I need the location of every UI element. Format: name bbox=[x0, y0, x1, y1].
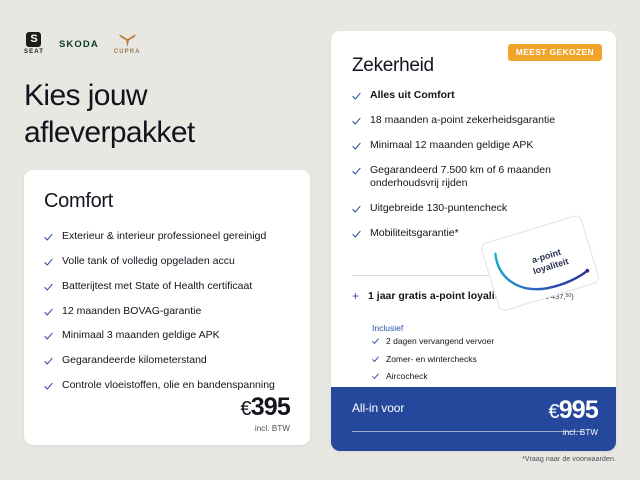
check-icon bbox=[44, 332, 53, 341]
list-item-label: Controle vloeistoffen, olie en bandenspa… bbox=[62, 379, 275, 393]
status-badge: MEEST GEKOZEN bbox=[508, 44, 602, 61]
list-item-label: Volle tank of volledig opgeladen accu bbox=[62, 255, 235, 269]
list-item-label: Zomer- en winterchecks bbox=[386, 354, 477, 365]
included-label: Inclusief bbox=[372, 323, 403, 333]
comfort-price-note: incl. BTW bbox=[240, 424, 290, 433]
list-item: Gegarandeerde kilometerstand bbox=[44, 354, 290, 368]
list-item: 12 maanden BOVAG-garantie bbox=[44, 305, 290, 319]
check-icon bbox=[372, 356, 379, 363]
check-icon bbox=[44, 233, 53, 242]
list-item: Aircocheck bbox=[372, 371, 542, 382]
seat-logo: S SEAT bbox=[24, 32, 44, 55]
check-icon bbox=[44, 357, 53, 366]
list-item: Zomer- en winterchecks bbox=[372, 354, 542, 365]
list-item-label: 2 dagen vervangend vervoer bbox=[386, 336, 494, 347]
check-icon bbox=[44, 283, 53, 292]
check-icon bbox=[352, 205, 361, 214]
list-item: Minimaal 3 maanden geldige APK bbox=[44, 329, 290, 343]
brand-logo-bar: S SEAT SKODA CUPRA bbox=[24, 31, 141, 55]
check-icon bbox=[352, 117, 361, 126]
list-item: 18 maanden a-point zekerheidsgarantie bbox=[352, 114, 600, 128]
allin-price-footer: All-in voor €995 incl. BTW bbox=[331, 387, 616, 451]
allin-price-value: 995 bbox=[559, 396, 598, 424]
page-title: Kies jouw afleverpakket bbox=[24, 78, 304, 152]
list-item: Alles uit Comfort bbox=[352, 89, 600, 103]
list-item-label: Minimaal 12 maanden geldige APK bbox=[370, 139, 533, 153]
left-column: S SEAT SKODA CUPRA Kies jouw afleverpakk… bbox=[0, 0, 320, 480]
list-item-label: 18 maanden a-point zekerheidsgarantie bbox=[370, 114, 555, 128]
zekerheid-package-card[interactable]: MEEST GEKOZEN Zekerheid Alles uit Comfor… bbox=[331, 31, 616, 451]
list-item: Gegarandeerd 7.500 km of 6 maanden onder… bbox=[352, 164, 600, 192]
check-icon bbox=[44, 258, 53, 267]
allin-price-block: €995 incl. BTW bbox=[548, 398, 598, 437]
check-icon bbox=[352, 230, 361, 239]
currency-symbol: € bbox=[240, 398, 250, 420]
check-icon bbox=[352, 92, 361, 101]
list-item-label: Batterijtest met State of Health certifi… bbox=[62, 280, 252, 294]
check-icon bbox=[352, 167, 361, 176]
comfort-feature-list: Exterieur & interieur professioneel gere… bbox=[44, 230, 290, 393]
comfort-package-card[interactable]: Comfort Exterieur & interieur profession… bbox=[24, 170, 310, 445]
plus-icon: + bbox=[352, 290, 359, 302]
currency-symbol: € bbox=[548, 401, 558, 423]
check-icon bbox=[44, 308, 53, 317]
list-item-label: Alles uit Comfort bbox=[370, 89, 455, 103]
cupra-wordmark: CUPRA bbox=[114, 49, 141, 55]
comfort-title: Comfort bbox=[44, 190, 290, 213]
list-item: Exterieur & interieur professioneel gere… bbox=[44, 230, 290, 244]
list-item-label: Minimaal 3 maanden geldige APK bbox=[62, 329, 220, 343]
list-item-label: Gegarandeerde kilometerstand bbox=[62, 354, 207, 368]
cupra-tribal-icon bbox=[118, 33, 137, 48]
list-item: 2 dagen vervangend vervoer bbox=[372, 336, 542, 347]
list-item-label: Exterieur & interieur professioneel gere… bbox=[62, 230, 266, 244]
check-icon bbox=[44, 382, 53, 391]
allin-price: €995 bbox=[548, 398, 598, 423]
check-icon bbox=[372, 338, 379, 345]
allin-price-note: incl. BTW bbox=[548, 428, 598, 437]
list-item-label: Uitgebreide 130-puntencheck bbox=[370, 202, 507, 216]
cupra-logo: CUPRA bbox=[114, 33, 141, 55]
list-item: Minimaal 12 maanden geldige APK bbox=[352, 139, 600, 153]
disclaimer-text: *Vraag naar de voorwaarden. bbox=[522, 456, 616, 463]
list-item-label: Aircocheck bbox=[386, 371, 428, 382]
seat-s-icon: S bbox=[26, 32, 41, 47]
list-item: Batterijtest met State of Health certifi… bbox=[44, 280, 290, 294]
seat-wordmark: SEAT bbox=[24, 49, 44, 55]
comfort-price-block: €395 incl. BTW bbox=[240, 395, 290, 433]
list-item: Controle vloeistoffen, olie en bandenspa… bbox=[44, 379, 290, 393]
list-item: Uitgebreide 130-puntencheck bbox=[352, 202, 600, 216]
zekerheid-title: Zekerheid bbox=[352, 55, 434, 77]
check-icon bbox=[352, 142, 361, 151]
list-item-label: Mobiliteitsgarantie* bbox=[370, 227, 459, 241]
list-item: Volle tank of volledig opgeladen accu bbox=[44, 255, 290, 269]
list-item-label: 12 maanden BOVAG-garantie bbox=[62, 305, 201, 319]
skoda-logo: SKODA bbox=[59, 39, 99, 55]
comfort-price: €395 bbox=[240, 395, 290, 420]
promo-canvas: S SEAT SKODA CUPRA Kies jouw afleverpakk… bbox=[0, 0, 640, 480]
check-icon bbox=[372, 373, 379, 380]
comfort-price-value: 395 bbox=[251, 393, 290, 421]
list-item-label: Gegarandeerd 7.500 km of 6 maanden onder… bbox=[370, 164, 600, 192]
